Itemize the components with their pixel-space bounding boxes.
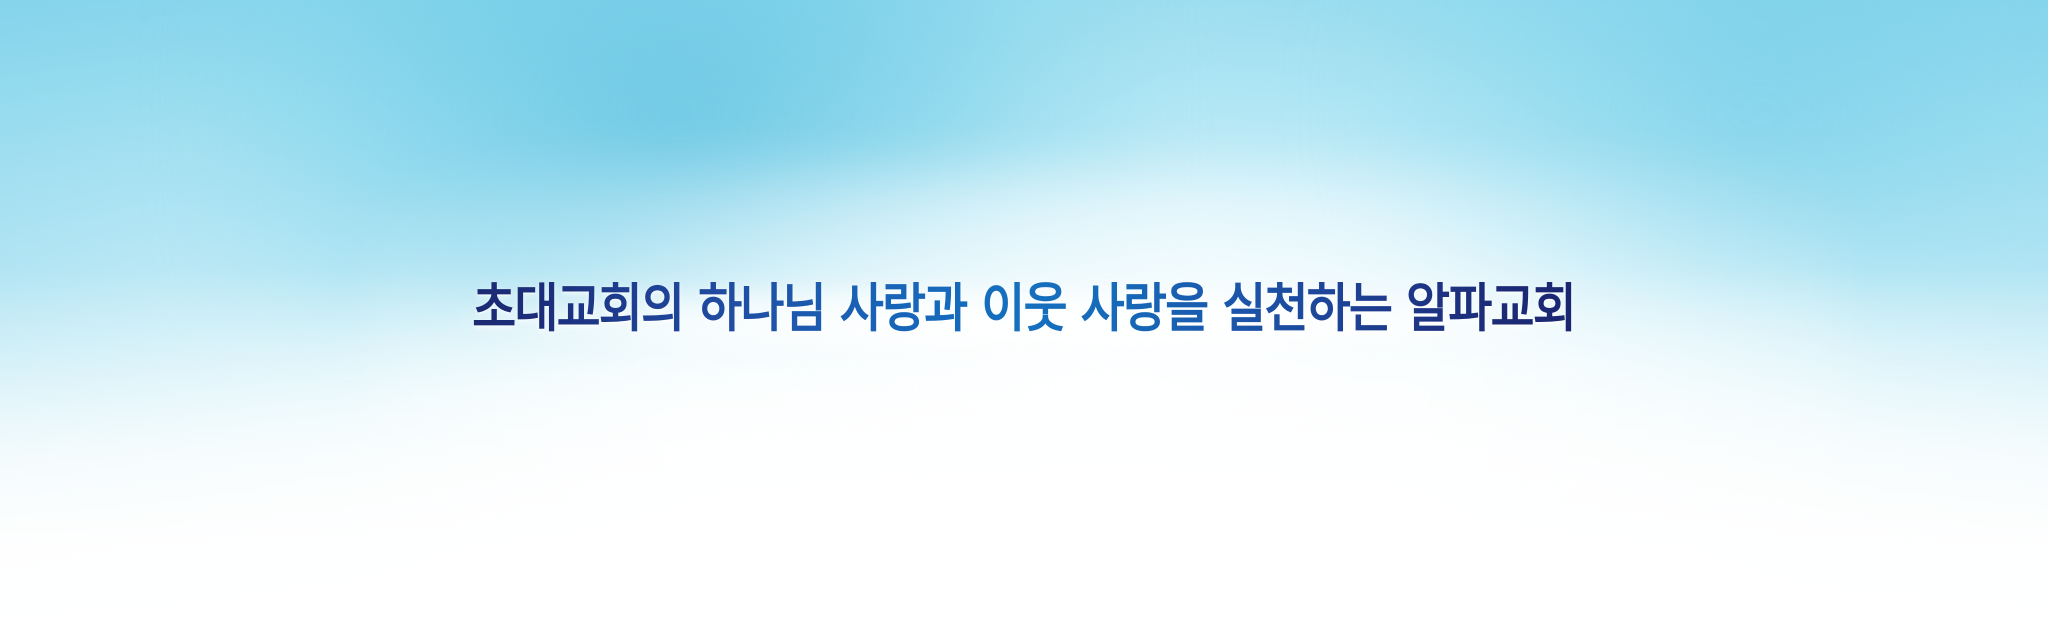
- church-hero-banner: 초대교회의 하나님 사랑과 이웃 사랑을 실천하는 알파교회: [0, 0, 2048, 640]
- background-bottom-white-wash: [0, 269, 2048, 640]
